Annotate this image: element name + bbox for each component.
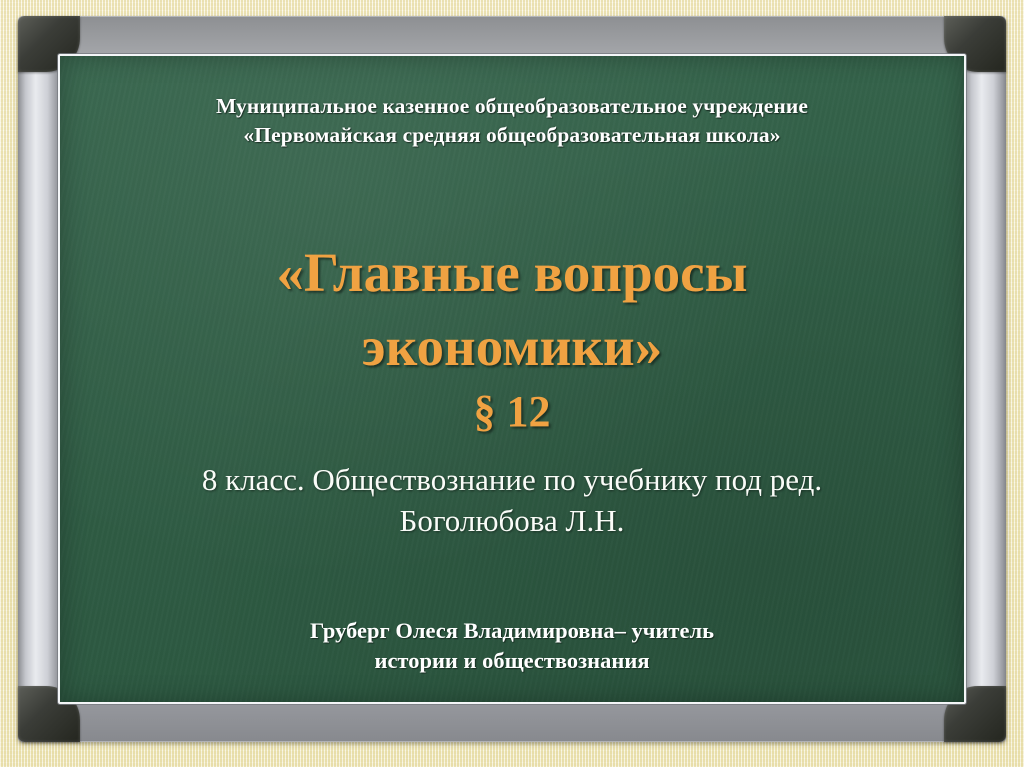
- author-credit: Груберг Олеся Владимировна– учитель исто…: [60, 616, 964, 675]
- course-info-line-1: 8 класс. Обществознание по учебнику под …: [202, 462, 822, 497]
- slide-title-line-2: экономики»: [362, 316, 662, 377]
- slide-title: «Главные вопросы экономики»: [60, 236, 964, 385]
- author-credit-line-2: истории и обществознания: [60, 646, 964, 676]
- section-number: § 12: [60, 386, 964, 438]
- author-credit-line-1: Груберг Олеся Владимировна– учитель: [310, 618, 714, 643]
- school-name-heading: Муниципальное казенное общеобразовательн…: [60, 94, 964, 149]
- school-name-line-1: Муниципальное казенное общеобразовательн…: [216, 94, 808, 118]
- school-name-line-2: «Первомайская средняя общеобразовательна…: [60, 123, 964, 148]
- frame-rail-left: [18, 16, 60, 742]
- course-info: 8 класс. Обществознание по учебнику под …: [60, 460, 964, 542]
- course-info-line-2: Боголюбова Л.Н.: [60, 501, 964, 542]
- frame-rail-right: [964, 16, 1006, 742]
- slide-canvas: Муниципальное казенное общеобразовательн…: [0, 0, 1024, 767]
- slide-title-line-1: «Главные вопросы: [276, 242, 747, 303]
- chalkboard-frame: Муниципальное казенное общеобразовательн…: [18, 16, 1006, 742]
- chalkboard-surface: Муниципальное казенное общеобразовательн…: [60, 56, 964, 702]
